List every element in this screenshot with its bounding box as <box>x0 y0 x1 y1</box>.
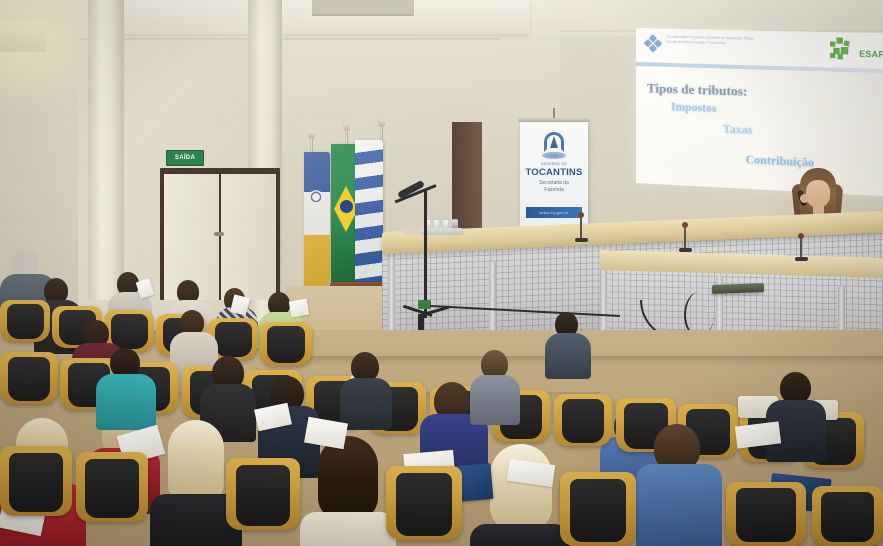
municipal-flag <box>355 140 383 286</box>
slide-bullet-2: Taxas <box>723 123 752 136</box>
audience-member <box>470 350 520 414</box>
audience-member <box>340 352 392 420</box>
banner-gov-label: GOVERNO DO <box>520 162 588 166</box>
wall-light-glow <box>0 0 110 120</box>
banner-dept-line1: Secretaria da <box>520 180 588 187</box>
microphone-stand-pole <box>424 190 427 318</box>
flag-finial <box>308 130 315 139</box>
auditorium-seat[interactable] <box>0 300 50 342</box>
exit-sign: SAÍDA <box>166 150 204 166</box>
auditorium-seat[interactable] <box>560 472 636 546</box>
door-leaf-right[interactable] <box>221 174 276 300</box>
ceiling-vent <box>312 0 414 16</box>
diamond-logo-icon <box>645 35 661 51</box>
auditorium-seat[interactable] <box>812 486 883 546</box>
door-handle[interactable] <box>214 232 224 236</box>
slide-header-org: Coordenação Programa Nacional de Educaçã… <box>666 35 798 49</box>
auditorium-seat[interactable] <box>226 458 300 530</box>
audience-member <box>545 312 591 372</box>
esaf-logo: ESAF <box>830 37 883 61</box>
banner-footer-text: sefaz.to.gov.br <box>539 211 568 215</box>
water-glasses <box>424 218 458 232</box>
tocantins-flag <box>304 152 330 286</box>
auditorium-seat[interactable] <box>0 352 58 404</box>
table-post <box>388 252 395 338</box>
auditorium-photo: SAÍDA Coordenação Programa Nacional de E… <box>0 0 883 546</box>
tocantins-crest-icon <box>541 130 567 160</box>
auditorium-seat[interactable] <box>386 466 462 540</box>
auditorium-seat[interactable] <box>260 322 312 366</box>
laptop[interactable] <box>712 283 764 294</box>
esaf-squares-icon <box>830 37 858 60</box>
audience-member <box>300 436 396 546</box>
audience-member <box>636 424 722 546</box>
audience-member <box>200 356 256 430</box>
auditorium-seat[interactable] <box>554 394 612 446</box>
flag-finial <box>378 118 385 127</box>
audience-member <box>96 348 156 418</box>
microphone-base <box>402 226 420 234</box>
banner-department: Secretaria da Fazenda <box>520 180 588 194</box>
auditorium-seat[interactable] <box>76 452 148 522</box>
banner-state-name: TOCANTINS <box>520 167 588 178</box>
slide-bullet-1: Impostos <box>671 101 716 115</box>
auditorium-seat[interactable] <box>726 482 806 546</box>
wall-light <box>0 22 46 52</box>
banner-footer: sefaz.to.gov.br <box>526 207 582 218</box>
esaf-logo-text: ESAF <box>859 49 883 59</box>
banner-dept-line2: Fazenda <box>520 187 588 194</box>
tocantins-banner: GOVERNO DO TOCANTINS Secretaria da Fazen… <box>520 122 588 226</box>
handout <box>289 299 310 318</box>
exit-sign-label: SAÍDA <box>175 155 195 161</box>
auditorium-seat[interactable] <box>0 446 72 516</box>
flag-finial <box>343 122 350 131</box>
slide-title: Tipos de tributos: <box>647 80 747 100</box>
cable-clip <box>418 300 431 309</box>
